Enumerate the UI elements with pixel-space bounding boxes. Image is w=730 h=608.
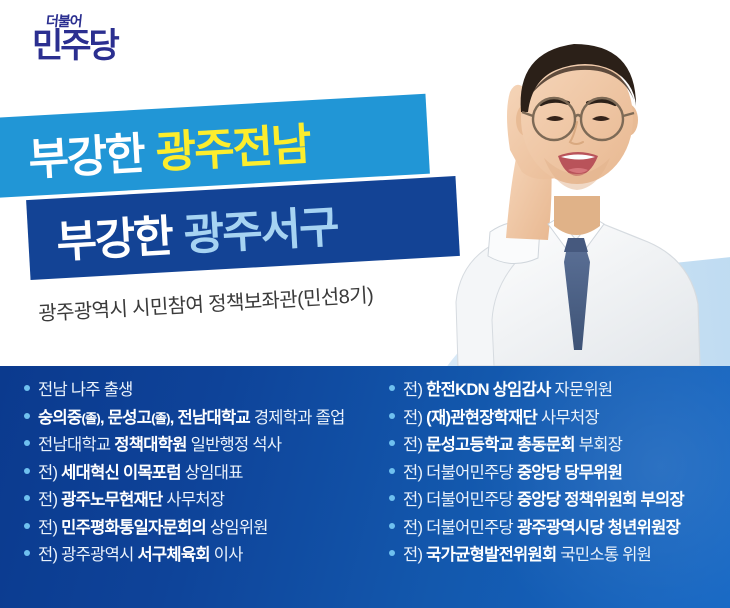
bullet-dot-icon bbox=[389, 495, 395, 501]
bullet-dot-icon bbox=[24, 550, 30, 556]
profile-list-item-text: 전) 한전KDN 상임감사 자문위원 bbox=[403, 382, 612, 399]
profile-list-item: 전) 더불어민주당 중앙당 정책위원회 부의장 bbox=[389, 492, 730, 509]
profile-list-item: 전) 문성고등학교 총동문회 부회장 bbox=[389, 437, 730, 454]
bullet-dot-icon bbox=[389, 385, 395, 391]
ear-left bbox=[516, 104, 536, 136]
shirt-rolled-cuff bbox=[488, 222, 540, 264]
headline-1-white-text: 부강한 bbox=[26, 118, 145, 188]
forearm bbox=[506, 142, 552, 240]
hair bbox=[521, 44, 636, 112]
face bbox=[521, 52, 633, 184]
profile-list-item: 전) (재)관현장학재단 사무처장 bbox=[389, 410, 730, 427]
profile-list-item-text: 전) (재)관현장학재단 사무처장 bbox=[403, 410, 599, 427]
profile-list-item: 전) 한전KDN 상임감사 자문위원 bbox=[389, 382, 730, 399]
profile-list-item-text: 전남 나주 출생 bbox=[38, 382, 133, 399]
chin-shadow bbox=[544, 158, 610, 190]
bullet-dot-icon bbox=[389, 550, 395, 556]
bullet-dot-icon bbox=[24, 440, 30, 446]
party-logo: 더불어 민주당 bbox=[32, 14, 152, 63]
bullet-dot-icon bbox=[24, 495, 30, 501]
eyeglasses bbox=[522, 98, 634, 140]
subtitle-role-text: 광주광역시 시민참여 정책보좌관(민선8기) bbox=[37, 279, 373, 327]
bullet-dot-icon bbox=[24, 523, 30, 529]
raised-hand bbox=[507, 73, 590, 179]
bullet-dot-icon bbox=[24, 468, 30, 474]
profile-list-item-text: 전) 광주노무현재단 사무처장 bbox=[38, 492, 224, 509]
party-logo-main-text: 민주당 bbox=[32, 29, 152, 63]
mouth bbox=[558, 152, 598, 176]
headline-2-white-text: 부강한 bbox=[55, 200, 174, 270]
eyebrow-right bbox=[588, 101, 615, 104]
bullet-dot-icon bbox=[389, 440, 395, 446]
profile-panel: 전남 나주 출생숭의중(졸), 문성고(졸), 전남대학교 경제학과 졸업전남대… bbox=[0, 366, 730, 608]
bullet-dot-icon bbox=[24, 385, 30, 391]
nose bbox=[570, 122, 583, 144]
ear-right bbox=[618, 104, 638, 136]
profile-list-item: 전) 광주노무현재단 사무처장 bbox=[24, 492, 365, 509]
profile-list-item-text: 전) 더불어민주당 중앙당 당무위원 bbox=[403, 465, 622, 482]
bullet-dot-icon bbox=[389, 413, 395, 419]
profile-list-item-text: 전) 더불어민주당 중앙당 정책위원회 부의장 bbox=[403, 492, 684, 509]
profile-list-item: 전) 세대혁신 이목포럼 상임대표 bbox=[24, 465, 365, 482]
neck bbox=[554, 196, 600, 235]
teeth bbox=[561, 155, 595, 160]
profile-list-item: 전) 광주광역시 서구체육회 이사 bbox=[24, 547, 365, 564]
campaign-poster: 더불어 민주당 부강한 광주전남 부강한 광주서구 광주광역시 시민참여 정책보… bbox=[0, 0, 730, 608]
eye-left bbox=[546, 116, 564, 121]
poster-header-area: 더불어 민주당 부강한 광주전남 부강한 광주서구 광주광역시 시민참여 정책보… bbox=[0, 0, 730, 366]
profile-list-item-text: 전) 더불어민주당 광주광역시당 청년위원장 bbox=[403, 520, 680, 537]
profile-list-item-text: 숭의중(졸), 문성고(졸), 전남대학교 경제학과 졸업 bbox=[38, 410, 345, 427]
profile-list-item: 전) 더불어민주당 중앙당 당무위원 bbox=[389, 465, 730, 482]
decorative-swoosh bbox=[414, 246, 730, 366]
profile-list-item-text: 전남대학교 정책대학원 일반행정 석사 bbox=[38, 437, 281, 454]
party-logo-top-text: 더불어 bbox=[45, 14, 152, 28]
bullet-dot-icon bbox=[24, 413, 30, 419]
profile-left-column: 전남 나주 출생숭의중(졸), 문성고(졸), 전남대학교 경제학과 졸업전남대… bbox=[0, 382, 365, 608]
profile-list-item-text: 전) 국가균형발전위원회 국민소통 위원 bbox=[403, 547, 651, 564]
profile-list-item: 전남대학교 정책대학원 일반행정 석사 bbox=[24, 437, 365, 454]
finger-lines bbox=[524, 86, 566, 120]
profile-list-item: 전남 나주 출생 bbox=[24, 382, 365, 399]
eye-right bbox=[592, 116, 610, 121]
bullet-dot-icon bbox=[389, 468, 395, 474]
profile-right-column: 전) 한전KDN 상임감사 자문위원전) (재)관현장학재단 사무처장전) 문성… bbox=[365, 382, 730, 608]
profile-list-item-text: 전) 세대혁신 이목포럼 상임대표 bbox=[38, 465, 243, 482]
profile-list-item: 전) 더불어민주당 광주광역시당 청년위원장 bbox=[389, 520, 730, 537]
bullet-dot-icon bbox=[389, 523, 395, 529]
profile-list-item-text: 전) 문성고등학교 총동문회 부회장 bbox=[403, 437, 622, 454]
headline-1-accent-text: 광주전남 bbox=[154, 108, 311, 180]
shirt-collar bbox=[548, 218, 604, 262]
profile-list-item: 전) 국가균형발전위원회 국민소통 위원 bbox=[389, 547, 730, 564]
tongue bbox=[568, 168, 588, 173]
headline-2-accent-text: 광주서구 bbox=[182, 191, 339, 263]
profile-list-item-text: 전) 광주광역시 서구체육회 이사 bbox=[38, 547, 243, 564]
profile-list-item-text: 전) 민주평화통일자문회의 상임위원 bbox=[38, 520, 268, 537]
profile-list-item: 전) 민주평화통일자문회의 상임위원 bbox=[24, 520, 365, 537]
eyebrow-left bbox=[541, 101, 568, 104]
hair-highlight bbox=[530, 66, 634, 100]
profile-list-item: 숭의중(졸), 문성고(졸), 전남대학교 경제학과 졸업 bbox=[24, 410, 365, 427]
necktie-knot bbox=[564, 238, 588, 252]
